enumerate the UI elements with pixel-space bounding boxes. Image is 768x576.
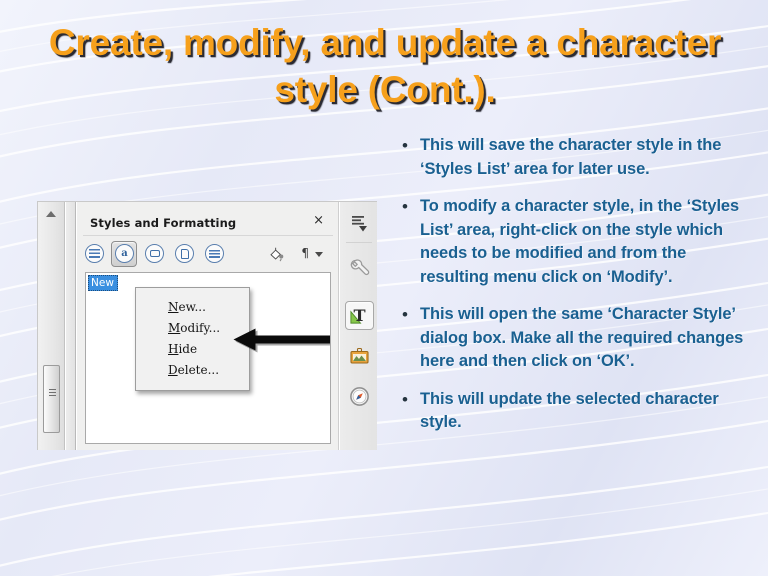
panel-gutter (66, 202, 76, 450)
styles-and-formatting-panel: Styles and Formatting × a (77, 202, 339, 450)
close-icon[interactable]: × (313, 215, 324, 227)
page-glyph (181, 249, 189, 259)
label: odify... (180, 321, 220, 335)
bullet-text: This will open the same ‘Character Style… (420, 303, 756, 374)
scroll-up-arrow-icon[interactable] (46, 211, 56, 217)
bullet-text: This will update the selected character … (420, 388, 756, 435)
tool-strip-divider (346, 242, 372, 243)
paragraph-styles-icon[interactable] (85, 244, 104, 263)
label: ide (178, 342, 197, 356)
panel-divider (83, 235, 333, 236)
slide-title: Create, modify, and update a character s… (40, 20, 730, 113)
frame-styles-icon[interactable] (145, 244, 164, 263)
sidebar-tool-strip: T (340, 202, 377, 450)
bullet-text: To modify a character style, in the ‘Sty… (420, 195, 756, 289)
embedded-screenshot: Styles and Formatting × a (37, 201, 377, 450)
bullet-item: • This will open the same ‘Character Sty… (396, 303, 756, 374)
list-styles-icon[interactable] (205, 244, 224, 263)
bullet-item: • This will update the selected characte… (396, 388, 756, 435)
label: ew... (179, 300, 206, 314)
document-scrollbar[interactable] (38, 202, 65, 450)
new-style-from-selection-icon[interactable]: ¶ (301, 246, 309, 260)
mnemonic: H (168, 342, 178, 356)
mnemonic: N (168, 300, 179, 314)
panel-toolbar: a ¶ (85, 242, 331, 266)
panel-title: Styles and Formatting (90, 216, 236, 230)
context-menu-item-new[interactable]: New... (136, 297, 249, 318)
bullet-text: This will save the character style in th… (420, 134, 756, 181)
bullet-marker: • (396, 388, 420, 411)
scrollbar-grip-icon (49, 389, 56, 396)
navigator-icon[interactable] (348, 385, 371, 408)
list-lines-glyph (209, 250, 220, 258)
bullet-item: • This will save the character style in … (396, 134, 756, 181)
bullet-list: • This will save the character style in … (396, 134, 756, 449)
mnemonic: M (168, 321, 180, 335)
label: elete... (178, 363, 219, 377)
gallery-icon[interactable] (348, 345, 371, 368)
styles-list[interactable]: New New... Modify... Hide Delete... (85, 272, 331, 444)
paragraph-lines-glyph (89, 249, 100, 258)
bullet-marker: • (396, 134, 420, 157)
svg-text:T: T (353, 306, 365, 325)
bullet-item: • To modify a character style, in the ‘S… (396, 195, 756, 289)
page-styles-icon[interactable] (175, 244, 194, 263)
styles-and-formatting-icon[interactable]: T (349, 305, 370, 326)
frame-rect-glyph (150, 250, 160, 257)
wrench-icon[interactable] (348, 257, 371, 280)
sidebar-settings-icon[interactable] (348, 212, 371, 235)
bullet-marker: • (396, 195, 420, 218)
pointer-arrow-icon (232, 327, 331, 353)
slide: Create, modify, and update a character s… (0, 0, 768, 576)
chevron-down-icon[interactable] (315, 252, 323, 257)
list-item[interactable]: New (88, 275, 118, 291)
scrollbar-thumb[interactable] (43, 365, 60, 433)
character-styles-icon[interactable]: a (115, 244, 134, 263)
mnemonic: D (168, 363, 178, 377)
bullet-marker: • (396, 303, 420, 326)
context-menu-item-delete[interactable]: Delete... (136, 360, 249, 381)
fill-format-mode-icon[interactable] (268, 245, 285, 262)
